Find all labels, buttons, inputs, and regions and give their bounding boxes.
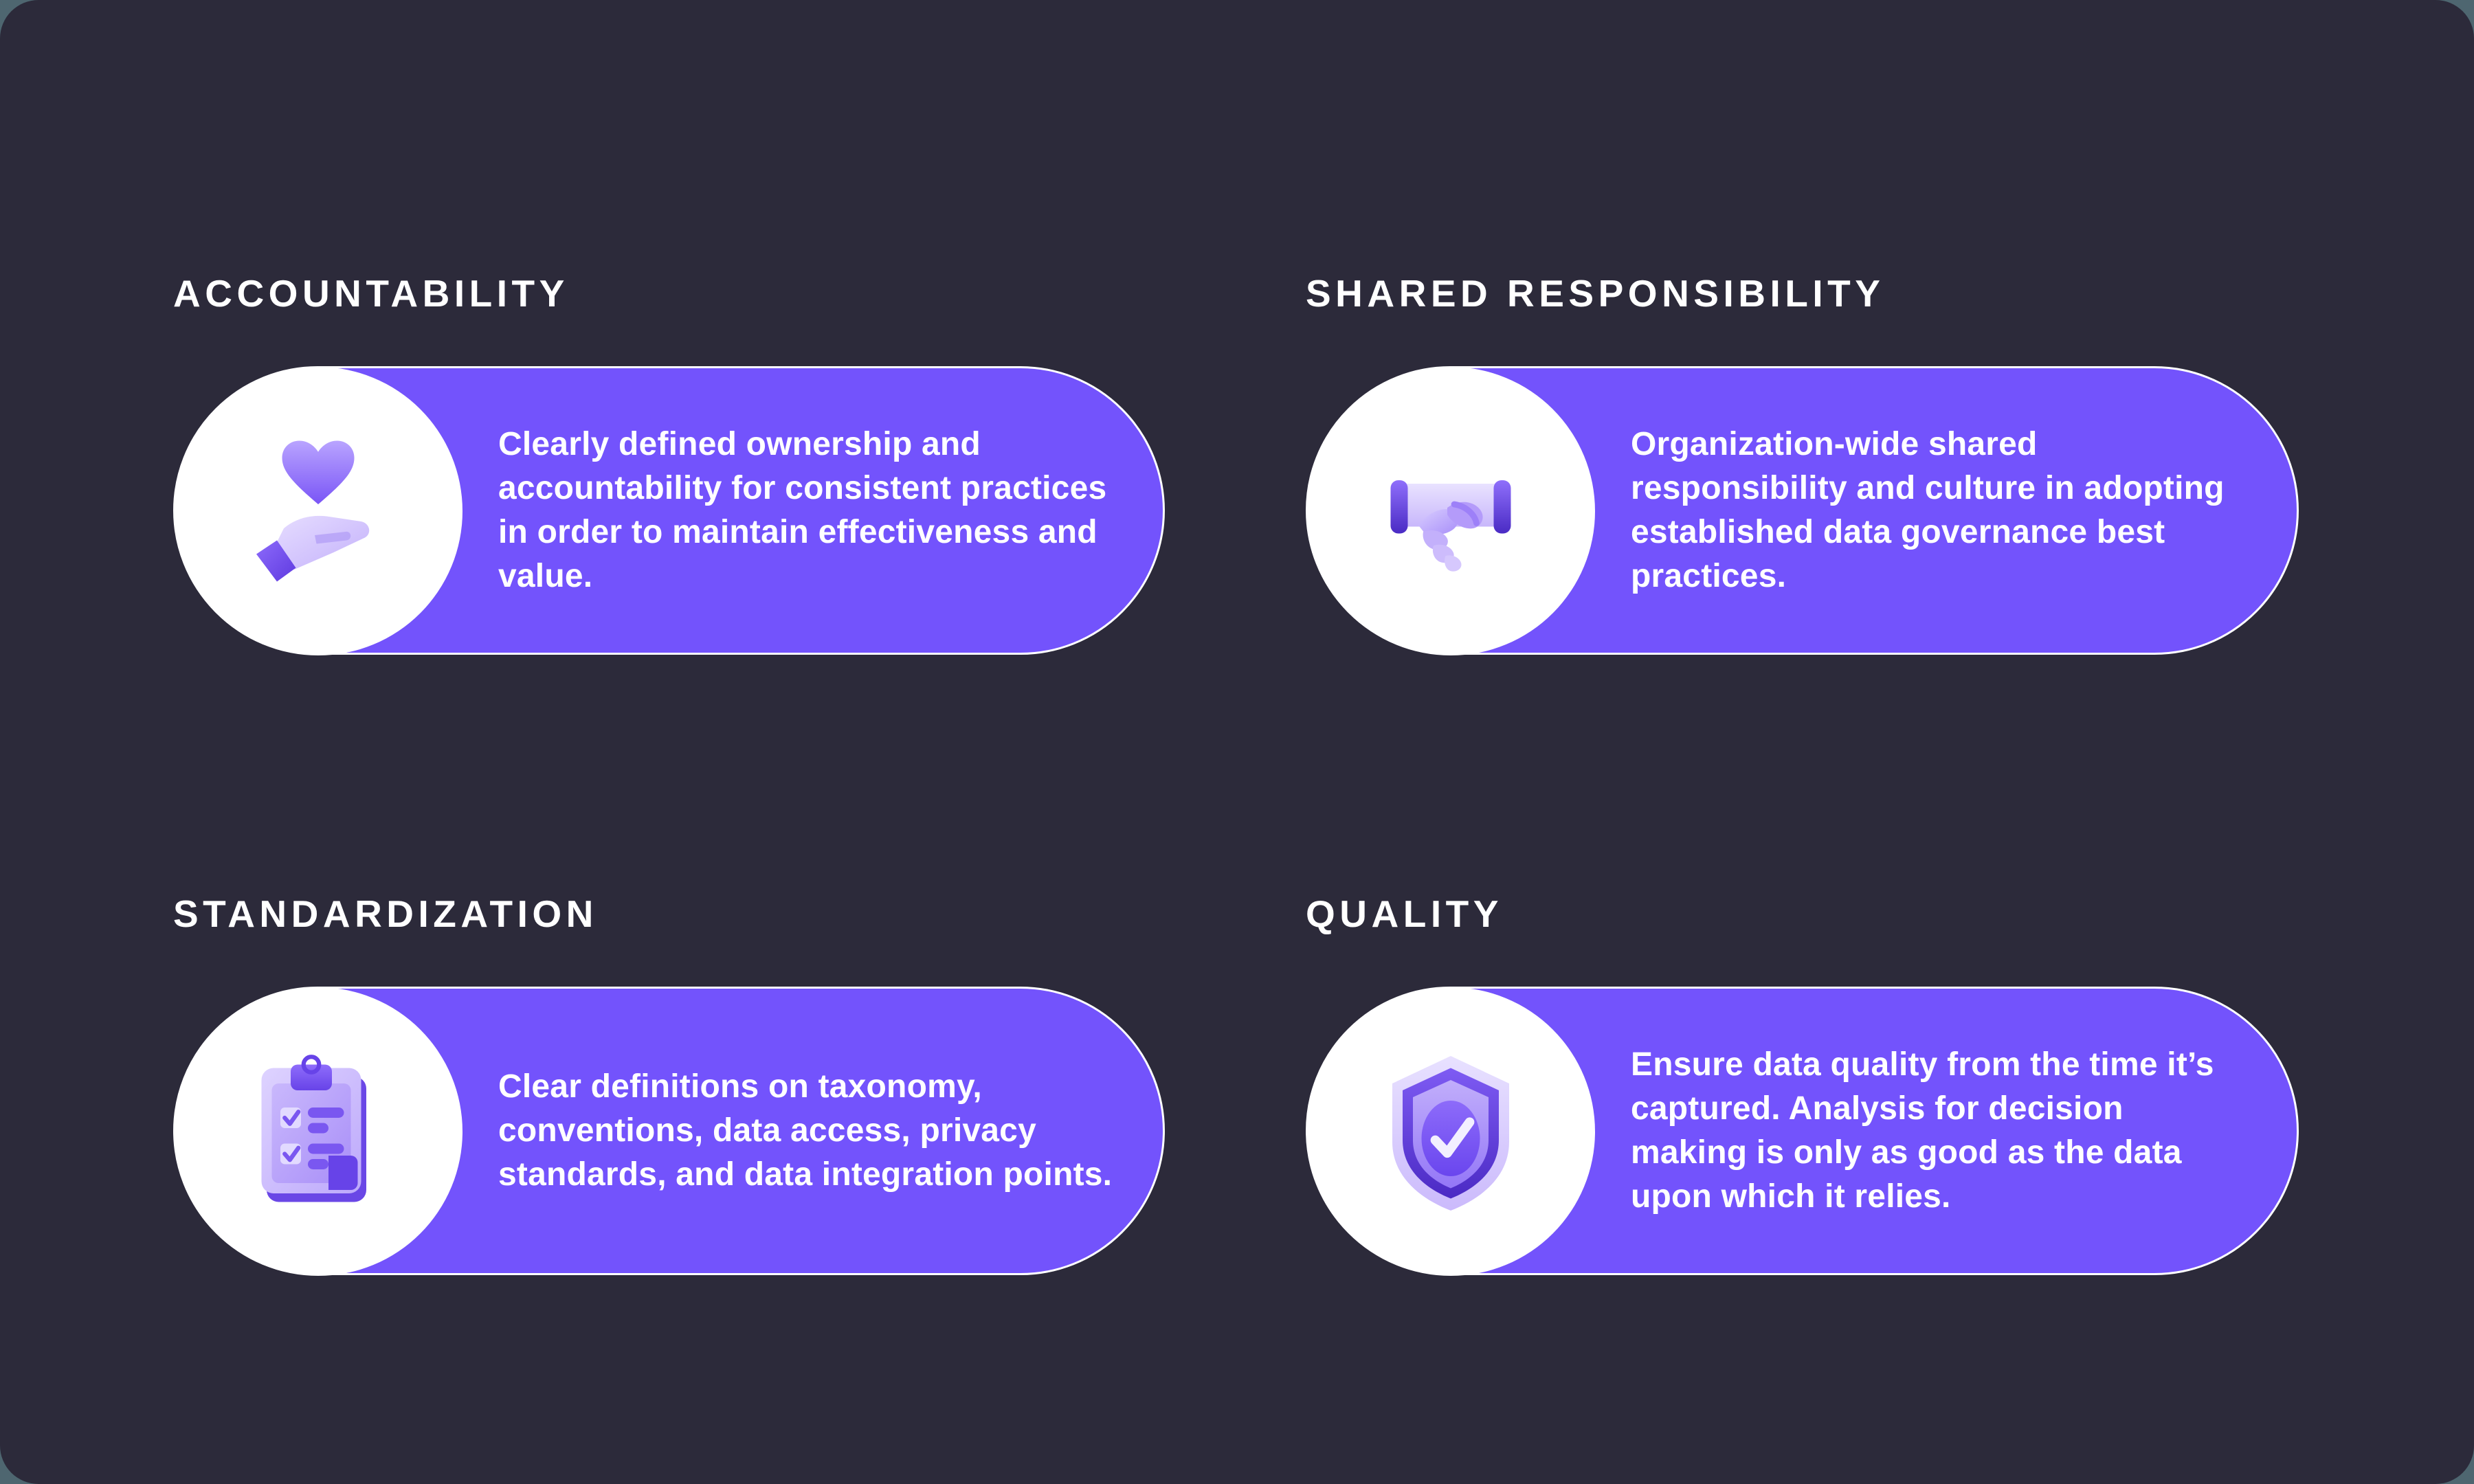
card-title-quality: QUALITY (1306, 895, 2302, 933)
card-pill-standardization[interactable]: Clear definitions on taxonomy, conventio… (173, 987, 1165, 1275)
card-description-accountability: Clearly defined ownership and accountabi… (498, 423, 1115, 598)
infographic-canvas: ACCOUNTABILITY (0, 0, 2474, 1484)
handshake-icon (1365, 425, 1537, 597)
card-pill-quality[interactable]: Ensure data quality from the time it’s c… (1306, 987, 2299, 1275)
shield-check-icon (1365, 1046, 1537, 1217)
card-description-shared-responsibility: Organization-wide shared responsibility … (1631, 423, 2249, 598)
card-title-shared-responsibility: SHARED RESPONSIBILITY (1306, 275, 2302, 313)
card-quality: QUALITY (1306, 895, 2302, 1275)
card-description-standardization: Clear definitions on taxonomy, conventio… (498, 1065, 1115, 1196)
card-pill-shared-responsibility[interactable]: Organization-wide shared responsibility … (1306, 366, 2299, 655)
heart-in-hand-icon (232, 425, 404, 597)
card-title-standardization: STANDARDIZATION (173, 895, 1306, 933)
principles-grid: ACCOUNTABILITY (173, 275, 2304, 1275)
icon-circle-shared-responsibility (1306, 367, 1595, 655)
card-shared-responsibility: SHARED RESPONSIBILITY (1306, 275, 2302, 655)
card-description-quality: Ensure data quality from the time it’s c… (1631, 1043, 2249, 1218)
icon-circle-quality (1306, 987, 1595, 1276)
card-pill-accountability[interactable]: Clearly defined ownership and accountabi… (173, 366, 1165, 655)
card-accountability: ACCOUNTABILITY (173, 275, 1306, 655)
icon-circle-accountability (174, 367, 463, 655)
card-standardization: STANDARDIZATION (173, 895, 1306, 1275)
clipboard-checklist-icon (232, 1046, 404, 1217)
icon-circle-standardization (174, 987, 463, 1276)
card-title-accountability: ACCOUNTABILITY (173, 275, 1306, 313)
